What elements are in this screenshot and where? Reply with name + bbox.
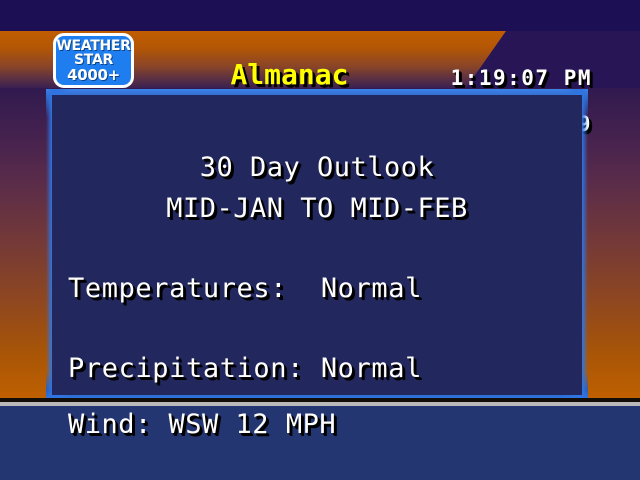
content-panel-body: 30 Day Outlook MID-JAN TO MID-FEB Temper… [52,95,582,395]
temperatures-row: Temperatures: Normal [68,273,422,305]
logo-line-model: 4000+ [67,68,120,83]
current-time: 1:19:07 PM [451,66,592,90]
wind-readout: Wind: WSW 12 MPH [68,406,336,444]
page-title-line1: Almanac [230,58,348,91]
logo-line-weather: WEATHER [56,39,130,53]
background-top-band [0,0,640,31]
outlook-period: MID-JAN TO MID-FEB [52,193,582,225]
outlook-heading: 30 Day Outlook [52,152,582,184]
weather-star-logo: WEATHER STAR 4000+ [53,33,134,88]
precipitation-row: Precipitation: Normal [68,353,422,385]
weather-star-screen: WEATHER STAR 4000+ Almanac Outlook 1:19:… [0,0,640,480]
